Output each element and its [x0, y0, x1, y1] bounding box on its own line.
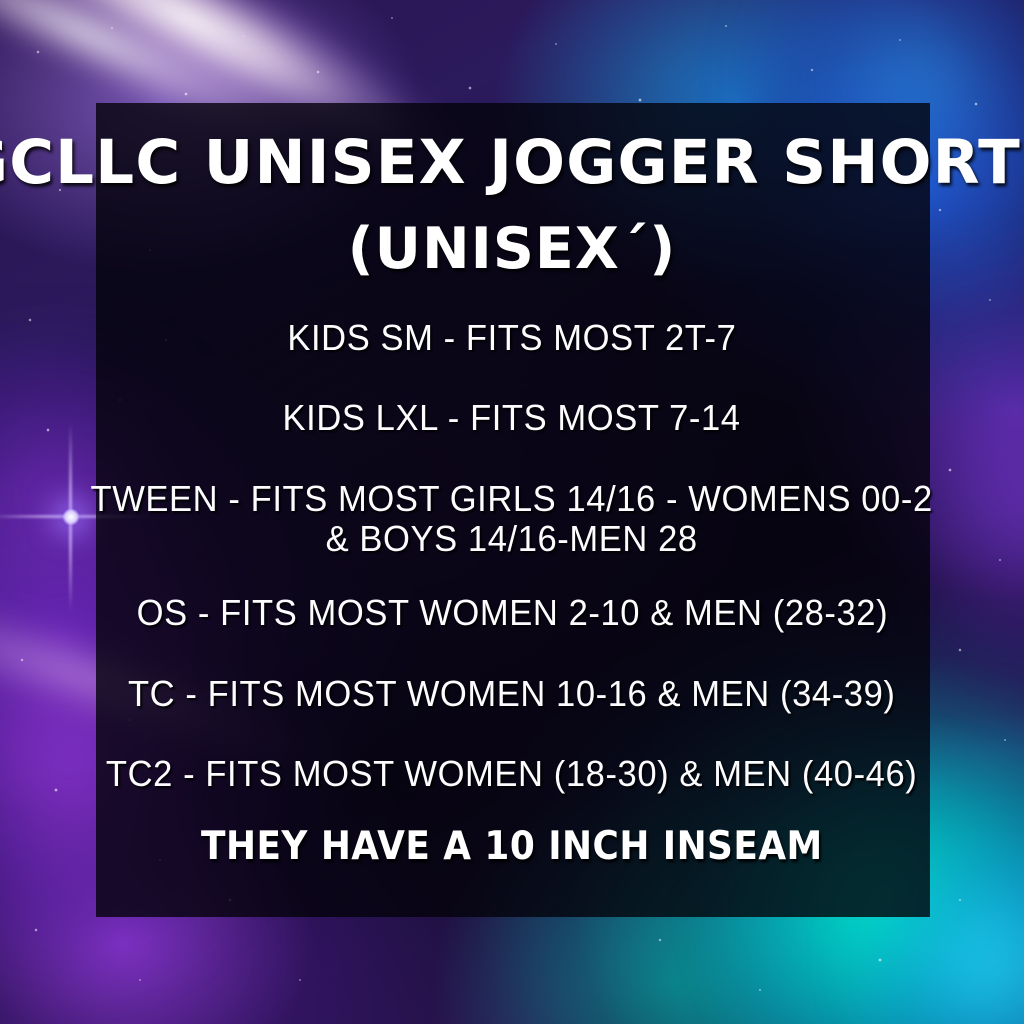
- size-chart-poster: GCLLC UNISEX JOGGER SHORTS (UNISEX´) KID…: [0, 0, 1024, 1024]
- dark-text-panel: [96, 103, 930, 917]
- flare-core: [61, 507, 81, 527]
- lens-flare-star: [44, 490, 98, 544]
